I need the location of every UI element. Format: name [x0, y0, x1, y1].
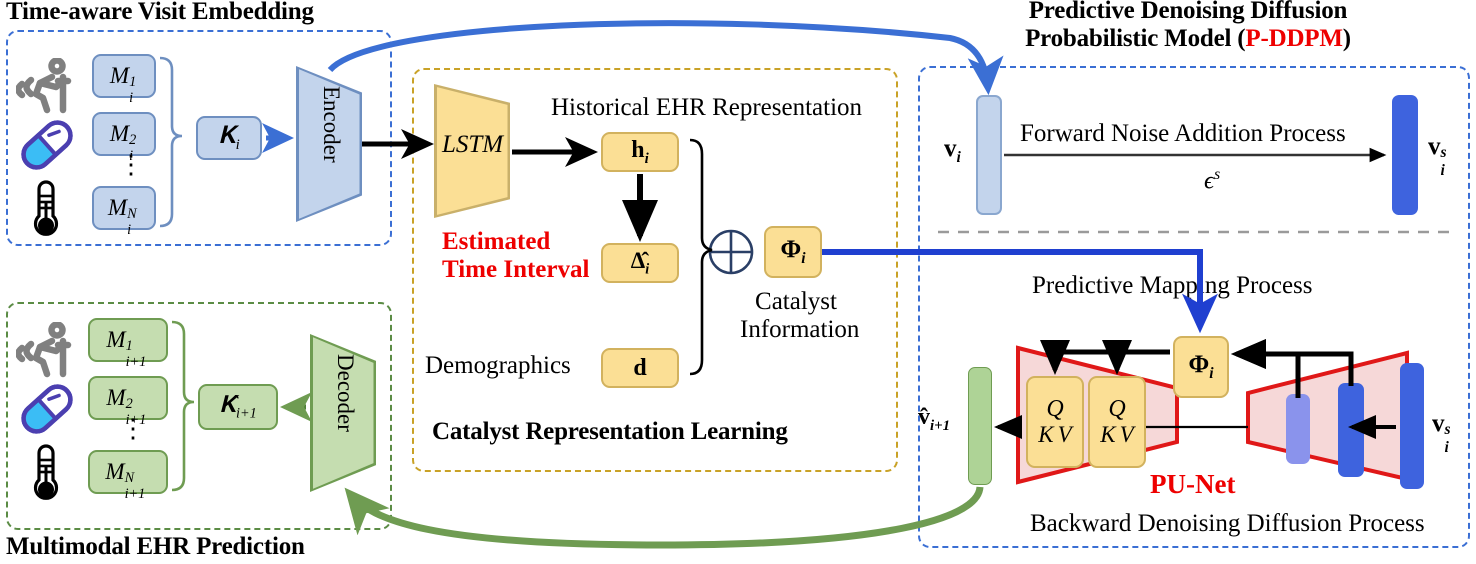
- demographics-label: Demographics: [425, 352, 571, 380]
- thermometer-icon: [26, 442, 66, 504]
- forward-noise-addition-label: Forward Noise Addition Process: [1020, 120, 1346, 148]
- punet-inner-bar-dark: [1338, 383, 1364, 477]
- encoder-label: Encoder: [318, 86, 344, 163]
- attention-block-1-k: K: [1038, 422, 1053, 447]
- predictive-mapping-label: Predictive Mapping Process: [1032, 272, 1313, 300]
- elderly-patient-icon: [16, 58, 78, 116]
- punet-output-label: v̂i+1: [918, 404, 950, 435]
- estimated-time-interval-label: Estimated Time Interval: [442, 228, 589, 283]
- ddpm-panel-title: Predictive Denoising Diffusion Probabili…: [968, 0, 1408, 52]
- ddpm-acronym: P-DDPM: [1245, 25, 1342, 52]
- pred-modality-box-1[interactable]: M1i+1: [88, 318, 168, 362]
- attention-block-1[interactable]: Q KV: [1026, 376, 1084, 468]
- pill-capsule-icon: [16, 382, 78, 436]
- attention-block-2-q: Q: [1100, 397, 1133, 422]
- pred-modality-box-n[interactable]: MNi+1: [88, 450, 168, 494]
- pill-capsule-icon: [16, 118, 78, 172]
- eti-line2: Time Interval: [442, 256, 589, 284]
- modality-box-1-label: M1i: [110, 63, 138, 89]
- ddpm-title-line2: Probabilistic Model (P-DDPM): [968, 25, 1408, 52]
- backward-denoising-label: Backward Denoising Diffusion Process: [1030, 510, 1425, 538]
- phi-box-catalyst-label: Φi: [780, 236, 805, 268]
- visit-embedding-box[interactable]: 𝚱i: [196, 116, 262, 160]
- delta-box[interactable]: Δ̂i: [601, 243, 679, 283]
- pred-modality-box-2-label: M2i+1: [106, 385, 149, 411]
- encoder-panel-title: Time-aware Visit Embedding: [6, 0, 314, 25]
- predicted-visit-label: 𝚱̂i+1: [219, 392, 256, 423]
- historical-ehr-representation-label: Historical EHR Representation: [551, 94, 862, 122]
- decoder-modality-ellipsis: ⋮: [120, 416, 146, 442]
- catalyst-info-line1: Catalyst: [740, 288, 852, 316]
- plus-operator-icon: [707, 228, 755, 276]
- attention-block-1-q: Q: [1038, 397, 1071, 422]
- punet-input-bar[interactable]: [1400, 363, 1424, 489]
- attention-block-2-k: K: [1100, 422, 1115, 447]
- visit-embedding-label: 𝚱i: [218, 123, 240, 154]
- catalyst-information-label: Catalyst Information: [740, 288, 852, 344]
- ddpm-title-prefix: Probabilistic Model (: [1025, 25, 1245, 52]
- ddpm-title-suffix: ): [1343, 25, 1351, 52]
- delta-box-label: Δ̂i: [631, 248, 649, 279]
- attention-block-2[interactable]: Q KV: [1088, 376, 1146, 468]
- predicted-visit-box[interactable]: 𝚱̂i+1: [198, 384, 278, 430]
- noise-epsilon-label: ϵs: [1204, 166, 1220, 195]
- modality-box-1[interactable]: M1i: [92, 54, 156, 98]
- punet-input-label: vsi: [1432, 410, 1453, 438]
- attention-block-1-v: V: [1058, 422, 1072, 447]
- punet-output-bar[interactable]: [968, 367, 992, 485]
- lstm-label: LSTM: [442, 131, 503, 159]
- d-box[interactable]: d: [601, 348, 679, 388]
- noisy-embedding-bar[interactable]: [1392, 95, 1418, 215]
- pred-modality-box-1-label: M1i+1: [106, 327, 149, 353]
- punet-encoder-trapezoid[interactable]: [1242, 350, 1410, 482]
- punet-inner-bar-light: [1286, 394, 1310, 464]
- phi-box-punet-label: Φi: [1188, 351, 1213, 383]
- h-box[interactable]: hi: [601, 132, 679, 172]
- punet-label: PU-Net: [1150, 469, 1235, 500]
- h-box-label: hi: [631, 137, 649, 168]
- v-clean-label: vi: [944, 135, 961, 167]
- d-box-label: d: [633, 355, 646, 382]
- eti-line1: Estimated: [442, 228, 589, 256]
- phi-box-punet[interactable]: Φi: [1173, 336, 1229, 398]
- encoder-modality-ellipsis: ⋮: [118, 152, 144, 178]
- catalyst-info-line2: Information: [740, 316, 852, 344]
- decoder-panel-title: Multimodal EHR Prediction: [6, 533, 305, 560]
- thermometer-icon: [26, 178, 66, 240]
- pred-modality-box-n-label: MNi+1: [105, 459, 150, 485]
- modality-box-n-label: MNi: [108, 195, 140, 221]
- v-noisy-label: vsi: [1428, 133, 1449, 161]
- decoder-label: Decoder: [332, 354, 358, 432]
- phi-box-catalyst[interactable]: Φi: [764, 226, 822, 278]
- modality-box-2-label: M2i: [110, 121, 138, 147]
- ddpm-title-line1: Predictive Denoising Diffusion: [968, 0, 1408, 24]
- punet-to-decoder-curve: [350, 487, 980, 545]
- elderly-patient-icon: [16, 322, 78, 380]
- modality-box-n[interactable]: MNi: [92, 186, 156, 230]
- clean-embedding-bar[interactable]: [976, 95, 1002, 215]
- attention-block-2-v: V: [1120, 422, 1134, 447]
